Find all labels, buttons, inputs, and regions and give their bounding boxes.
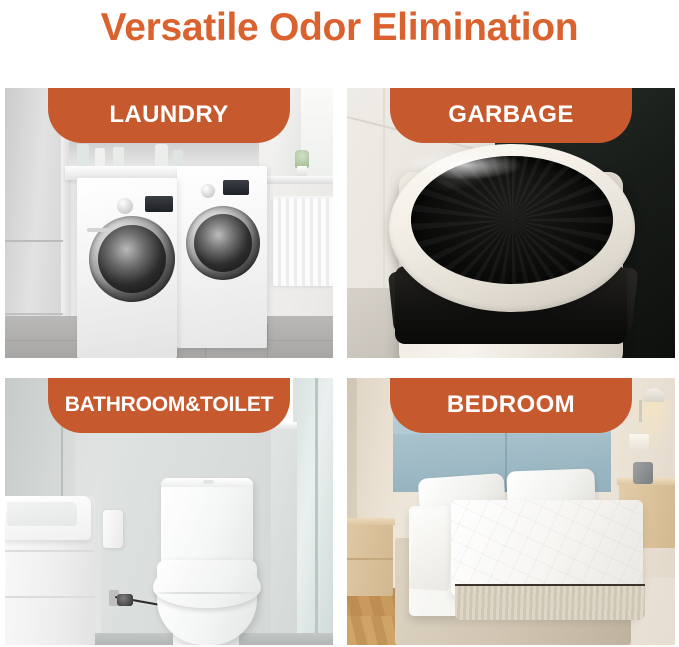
badge-bathroom: BATHROOM&TOILET bbox=[48, 378, 290, 433]
bedroom-folded-sheet bbox=[409, 509, 453, 591]
laundry-washer-drum bbox=[98, 225, 166, 293]
bathroom-hose-connector bbox=[117, 594, 133, 606]
bedroom-lamp-arm bbox=[639, 400, 642, 422]
bedroom-vase bbox=[633, 462, 653, 484]
bathroom-toilet-tank bbox=[161, 478, 253, 568]
garbage-wall-seam-vertical bbox=[383, 88, 385, 298]
badge-laundry: LAUNDRY bbox=[48, 88, 290, 143]
laundry-radiator bbox=[273, 198, 333, 286]
bathroom-vanity-seam-1 bbox=[5, 550, 95, 552]
badge-laundry-label: LAUNDRY bbox=[109, 103, 228, 127]
bedroom-mattress-edge bbox=[455, 584, 645, 620]
laundry-dryer-drum bbox=[194, 214, 252, 272]
badge-garbage: GARBAGE bbox=[390, 88, 632, 143]
bedroom-mattress-topper bbox=[451, 500, 643, 596]
bathroom-toilet-paper-roll bbox=[103, 510, 123, 548]
bathroom-toilet-seat-seam bbox=[157, 592, 257, 594]
badge-bedroom: BEDROOM bbox=[390, 378, 632, 433]
badge-bathroom-label: BATHROOM&TOILET bbox=[65, 394, 274, 415]
bedroom-nightstand-left-drawer bbox=[347, 558, 393, 560]
bedroom-nightstand-left bbox=[347, 518, 393, 596]
laundry-tile-line-2 bbox=[267, 324, 268, 358]
bedroom-light-switch bbox=[629, 434, 649, 450]
panel-garbage: GARBAGE bbox=[347, 88, 675, 358]
laundry-dryer-knob bbox=[201, 184, 215, 198]
bedroom-nightstand-left-top bbox=[347, 518, 395, 525]
garbage-rim-highlight bbox=[405, 150, 523, 180]
panel-laundry: LAUNDRY bbox=[5, 88, 333, 358]
bathroom-sink-basin bbox=[7, 502, 77, 526]
bathroom-flush-button bbox=[203, 480, 214, 484]
laundry-dryer-display bbox=[223, 180, 249, 195]
use-case-grid: LAUNDRY GARBAGE bbox=[5, 88, 674, 645]
panel-bathroom: BATHROOM&TOILET bbox=[5, 378, 333, 645]
bathroom-toilet-seat bbox=[153, 560, 261, 608]
laundry-cabinet-seam-lower bbox=[5, 313, 63, 315]
badge-bedroom-label: BEDROOM bbox=[447, 393, 575, 417]
laundry-washer-display bbox=[145, 196, 173, 212]
laundry-washer-knob bbox=[117, 198, 133, 214]
page-title: Versatile Odor Elimination bbox=[0, 0, 679, 80]
badge-garbage-label: GARBAGE bbox=[448, 103, 573, 127]
bathroom-glass-edge bbox=[315, 378, 318, 645]
laundry-window-sill bbox=[267, 176, 333, 184]
laundry-cabinet-seam-upper bbox=[5, 240, 63, 242]
laundry-washer-drawer-handle bbox=[87, 228, 109, 232]
bathroom-vanity-seam-2 bbox=[5, 596, 95, 598]
panel-bedroom: BEDROOM bbox=[347, 378, 675, 645]
